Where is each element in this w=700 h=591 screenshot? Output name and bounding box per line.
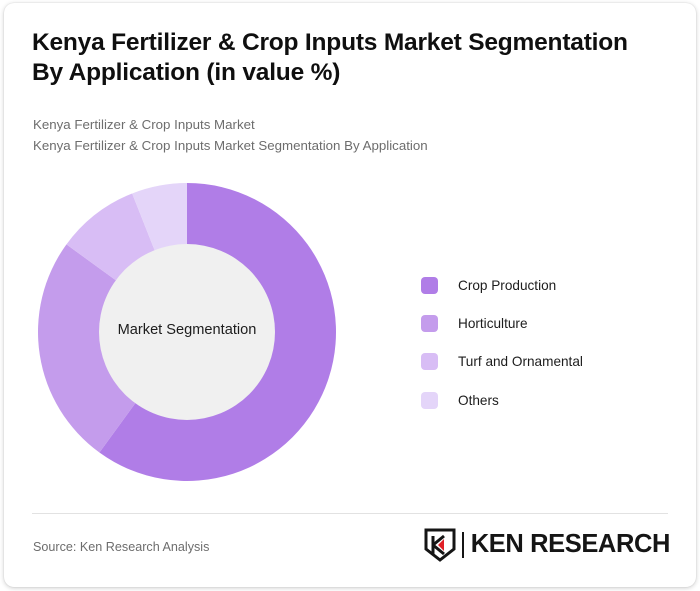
footer-divider [32,513,668,514]
legend-item[interactable]: Turf and Ornamental [421,343,671,381]
donut-chart: Market Segmentation [37,182,337,482]
logo-wordmark: KEN RESEARCH [471,532,670,558]
legend-item[interactable]: Crop Production [421,266,671,304]
legend-swatch [421,353,438,370]
legend-label: Others [458,393,499,408]
donut-center-hole [99,244,275,420]
subtitle-market: Kenya Fertilizer & Crop Inputs Market [33,116,255,133]
ken-research-logo: KEN RESEARCH [423,527,670,563]
legend-swatch [421,392,438,409]
legend-label: Crop Production [458,278,556,293]
ken-research-shield-icon [423,527,457,563]
logo-separator-bar [457,530,469,560]
legend-label: Horticulture [458,316,528,331]
legend-item[interactable]: Horticulture [421,304,671,342]
subtitle-segmentation: Kenya Fertilizer & Crop Inputs Market Se… [33,137,428,154]
legend-swatch [421,315,438,332]
source-note: Source: Ken Research Analysis [33,540,209,554]
donut-chart-svg [37,182,337,482]
legend-swatch [421,277,438,294]
legend-label: Turf and Ornamental [458,354,583,369]
chart-legend: Crop ProductionHorticultureTurf and Orna… [421,266,671,420]
legend-item[interactable]: Others [421,381,671,419]
chart-card: Kenya Fertilizer & Crop Inputs Market Se… [4,3,696,587]
page-title: Kenya Fertilizer & Crop Inputs Market Se… [32,28,660,88]
